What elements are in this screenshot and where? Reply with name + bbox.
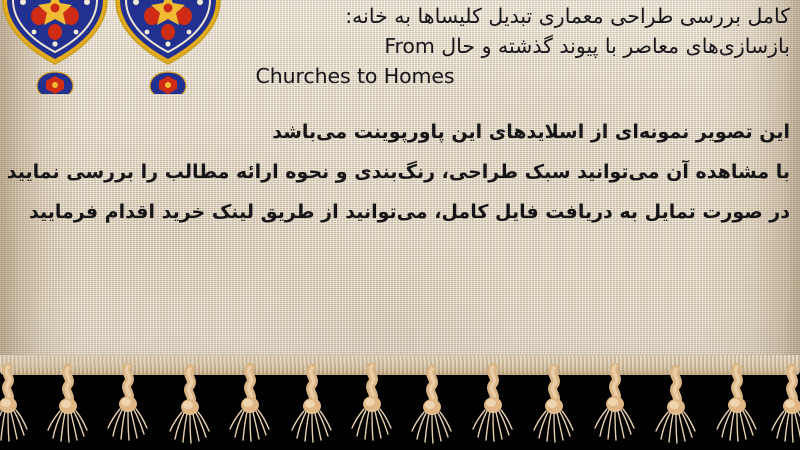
slide-canvas: کامل بررسی طراحی معماری تبدیل کلیساها به… xyxy=(0,0,800,450)
body-line-2: با مشاهده آن می‌توانید سبک طراحی، رنگ‌بن… xyxy=(10,152,790,192)
tassel-svg xyxy=(0,363,800,450)
carpet-fringe-tassels xyxy=(0,363,800,450)
title-line-2: بازسازی‌های معاصر با پیوند گذشته و حال F… xyxy=(10,31,790,61)
slide-text-layer: کامل بررسی طراحی معماری تبدیل کلیساها به… xyxy=(0,0,800,372)
title-line-3: Churches to Homes xyxy=(10,61,790,91)
slide-body: این تصویر نمونه‌ای از اسلایدهای این پاور… xyxy=(10,112,790,232)
body-line-3: در صورت تمایل به دریافت فایل کامل، می‌تو… xyxy=(10,192,790,232)
slide-title: کامل بررسی طراحی معماری تبدیل کلیساها به… xyxy=(10,1,790,91)
body-line-1: این تصویر نمونه‌ای از اسلایدهای این پاور… xyxy=(10,112,790,152)
carpet-fringe-band xyxy=(0,355,800,450)
title-line-1: کامل بررسی طراحی معماری تبدیل کلیساها به… xyxy=(10,1,790,31)
